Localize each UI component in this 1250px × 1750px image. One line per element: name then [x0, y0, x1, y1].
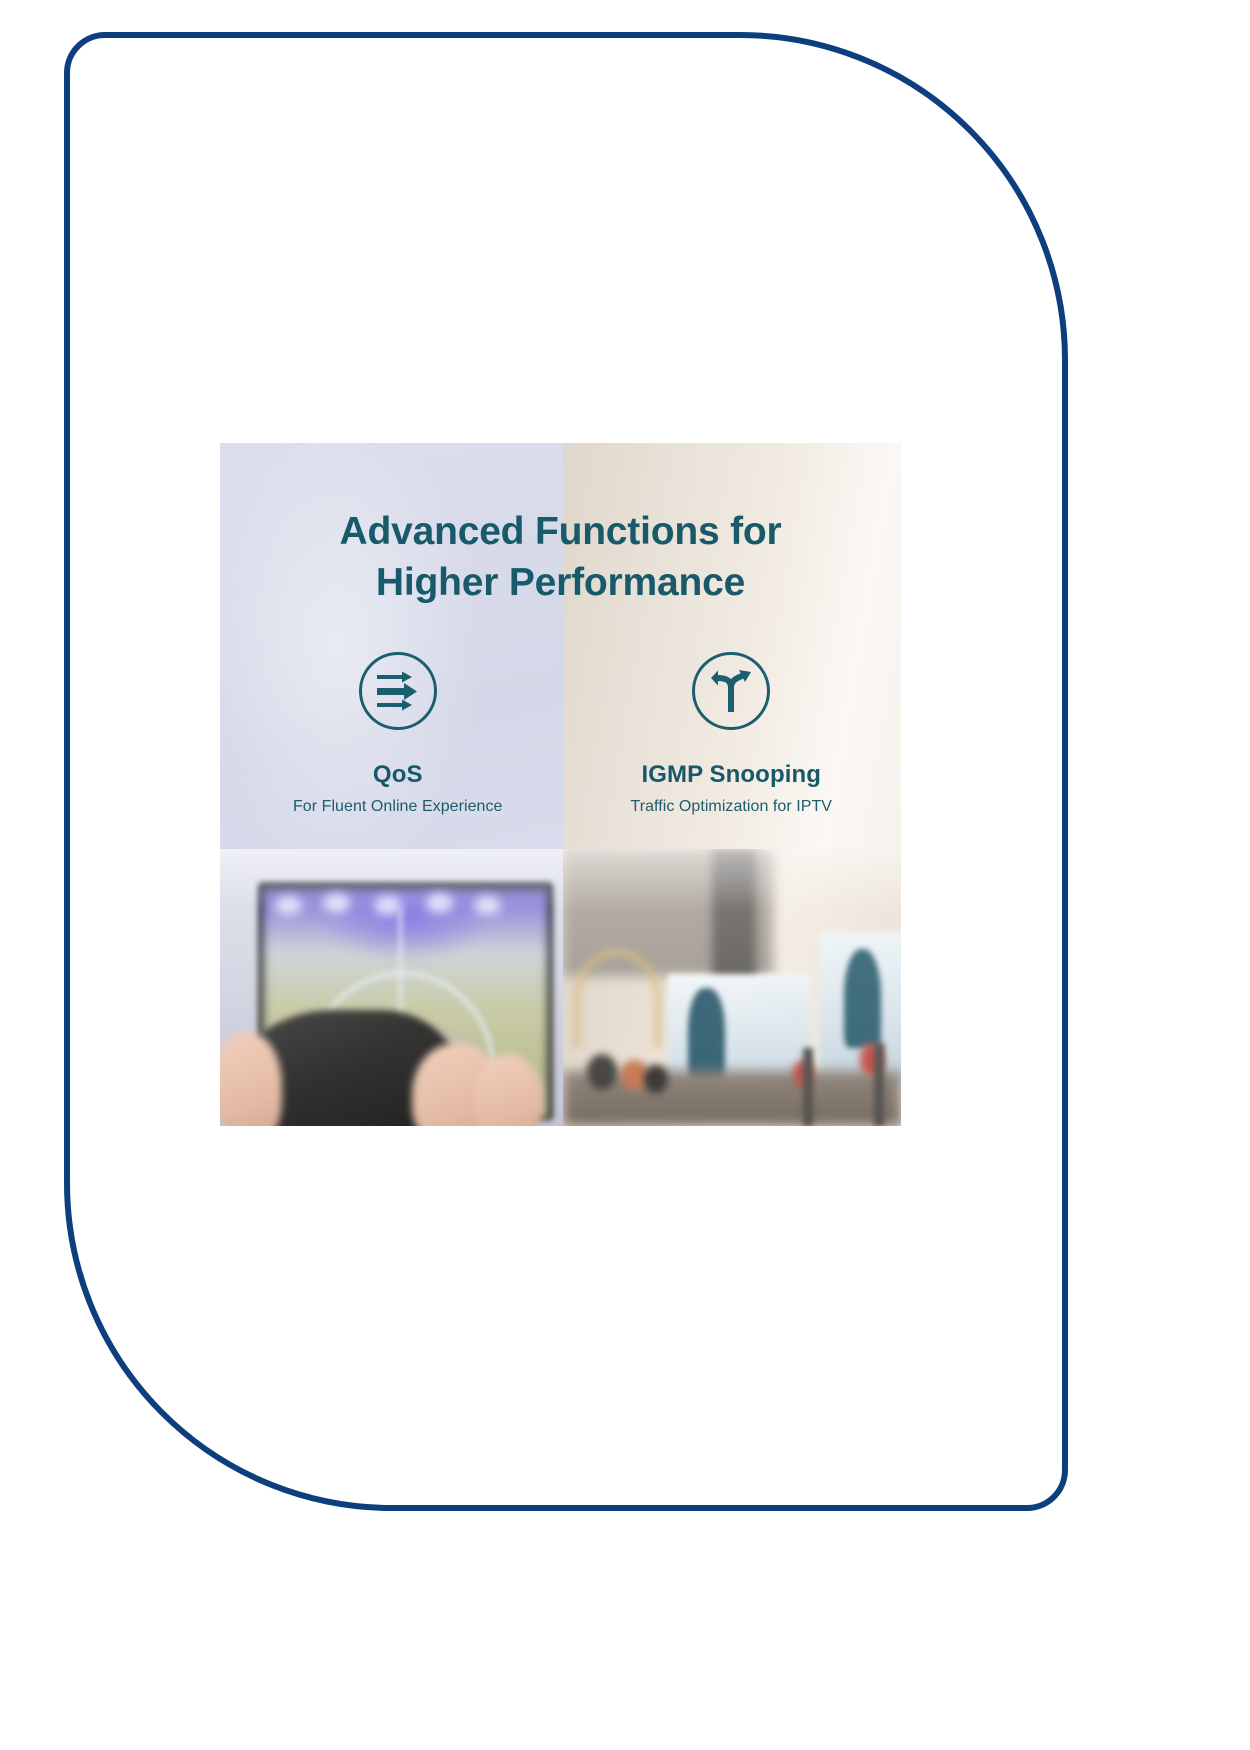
page-root: Advanced Functions for Higher Performanc… [0, 0, 1250, 1750]
photo-strip [220, 849, 901, 1126]
card-title-line-2: Higher Performance [220, 558, 901, 609]
feature-card: Advanced Functions for Higher Performanc… [220, 443, 901, 1126]
feature-qos-title: QoS [228, 761, 568, 789]
igmp-branching-road-icon [692, 652, 770, 730]
feature-igmp-subtitle: Traffic Optimization for IPTV [562, 798, 902, 816]
feature-qos: QoS For Fluent Online Experience [228, 652, 568, 816]
card-content: Advanced Functions for Higher Performanc… [220, 443, 901, 816]
feature-qos-subtitle: For Fluent Online Experience [228, 798, 568, 816]
feature-list: QoS For Fluent Online Experience [220, 652, 901, 816]
feature-igmp-title: IGMP Snooping [562, 761, 902, 789]
qos-arrows-icon [359, 652, 437, 730]
card-title-line-1: Advanced Functions for [220, 507, 901, 558]
photo-fade-overlay [220, 849, 901, 1126]
card-title: Advanced Functions for Higher Performanc… [220, 507, 901, 608]
feature-igmp-snooping: IGMP Snooping Traffic Optimization for I… [562, 652, 902, 816]
